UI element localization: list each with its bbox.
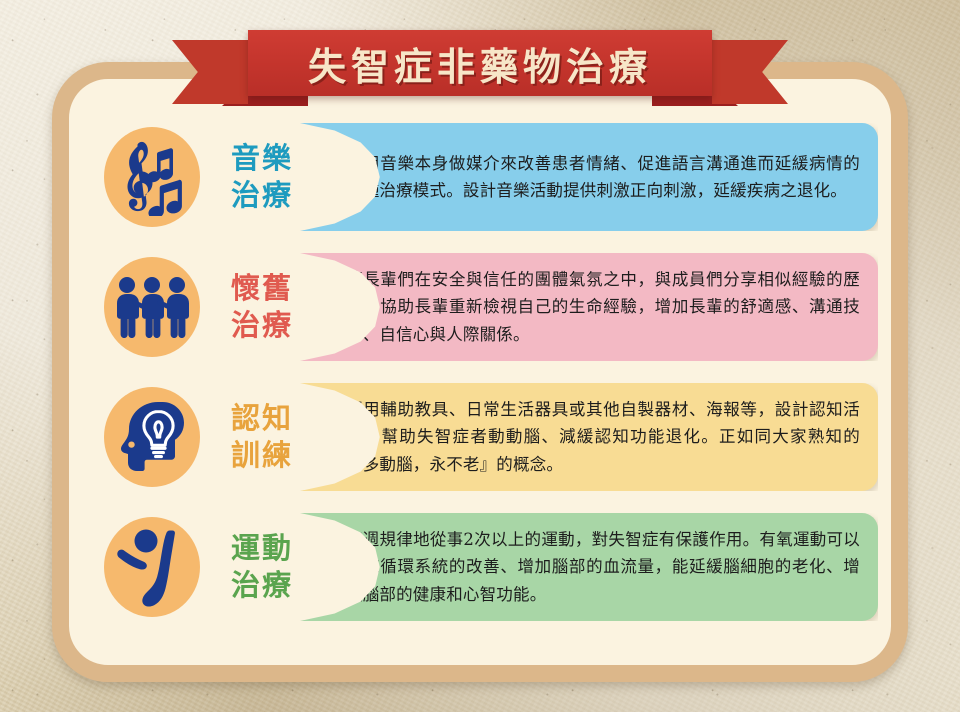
therapy-label-exercise: 運動 治療: [210, 530, 314, 604]
therapy-row-list: 音樂 治療 運用音樂本身做媒介來改善患者情緒、促進語言溝通進而延緩病情的一種治療…: [52, 62, 908, 682]
therapy-panel-cognitive: 運用輔助教具、日常生活器具或其他自製器材、海報等，設計認知活動，幫助失智症者動動…: [300, 383, 878, 491]
icon-badge-exercise: [104, 517, 200, 617]
infographic-poster: 失智症非藥物治療 音樂 治療 運用音樂本身做媒: [0, 0, 960, 720]
therapy-panel-music: 運用音樂本身做媒介來改善患者情緒、促進語言溝通進而延緩病情的一種治療模式。設計音…: [300, 123, 878, 231]
icon-badge-cognitive: [104, 387, 200, 487]
therapy-label-cognitive-line2: 訓練: [210, 437, 314, 474]
therapy-label-exercise-line1: 運動: [210, 530, 314, 567]
therapy-panel-exercise: 每週規律地從事2次以上的運動，對失智症有保護作用。有氧運動可以帶來循環系統的改善…: [300, 513, 878, 621]
bottom-white-strip: [0, 712, 960, 720]
therapy-row-cognitive: 認知 訓練 運用輔助教具、日常生活器具或其他自製器材、海報等，設計認知活動，幫助…: [82, 378, 878, 496]
therapy-label-cognitive: 認知 訓練: [210, 400, 314, 474]
therapy-body-reminiscence: 讓長輩們在安全與信任的團體氣氛之中，與成員們分享相似經驗的歷程，協助長輩重新檢視…: [346, 266, 860, 348]
therapy-row-exercise: 運動 治療 每週規律地從事2次以上的運動，對失智症有保護作用。有氧運動可以帶來循…: [82, 508, 878, 626]
therapy-label-exercise-line2: 治療: [210, 567, 314, 604]
therapy-label-cognitive-line1: 認知: [210, 400, 314, 437]
active-person-icon: [116, 526, 188, 608]
therapy-label-reminiscence-line1: 懷舊: [210, 270, 314, 307]
therapy-label-reminiscence: 懷舊 治療: [210, 270, 314, 344]
music-notes-icon: [113, 138, 191, 216]
therapy-label-music-line2: 治療: [210, 177, 314, 214]
therapy-label-reminiscence-line2: 治療: [210, 307, 314, 344]
therapy-panel-reminiscence: 讓長輩們在安全與信任的團體氣氛之中，與成員們分享相似經驗的歷程，協助長輩重新檢視…: [300, 253, 878, 361]
therapy-body-cognitive: 運用輔助教具、日常生活器具或其他自製器材、海報等，設計認知活動，幫助失智症者動動…: [346, 396, 860, 478]
therapy-row-reminiscence: 懷舊 治療 讓長輩們在安全與信任的團體氣氛之中，與成員們分享相似經驗的歷程，協助…: [82, 248, 878, 366]
therapy-body-exercise: 每週規律地從事2次以上的運動，對失智症有保護作用。有氧運動可以帶來循環系統的改善…: [346, 526, 860, 608]
head-lightbulb-icon: [110, 398, 194, 476]
therapy-label-music-line1: 音樂: [210, 140, 314, 177]
icon-badge-music: [104, 127, 200, 227]
people-holding-hands-icon: [111, 274, 193, 340]
icon-badge-reminiscence: [104, 257, 200, 357]
therapy-body-music: 運用音樂本身做媒介來改善患者情緒、促進語言溝通進而延緩病情的一種治療模式。設計音…: [346, 150, 860, 204]
therapy-row-music: 音樂 治療 運用音樂本身做媒介來改善患者情緒、促進語言溝通進而延緩病情的一種治療…: [82, 118, 878, 236]
therapy-label-music: 音樂 治療: [210, 140, 314, 214]
